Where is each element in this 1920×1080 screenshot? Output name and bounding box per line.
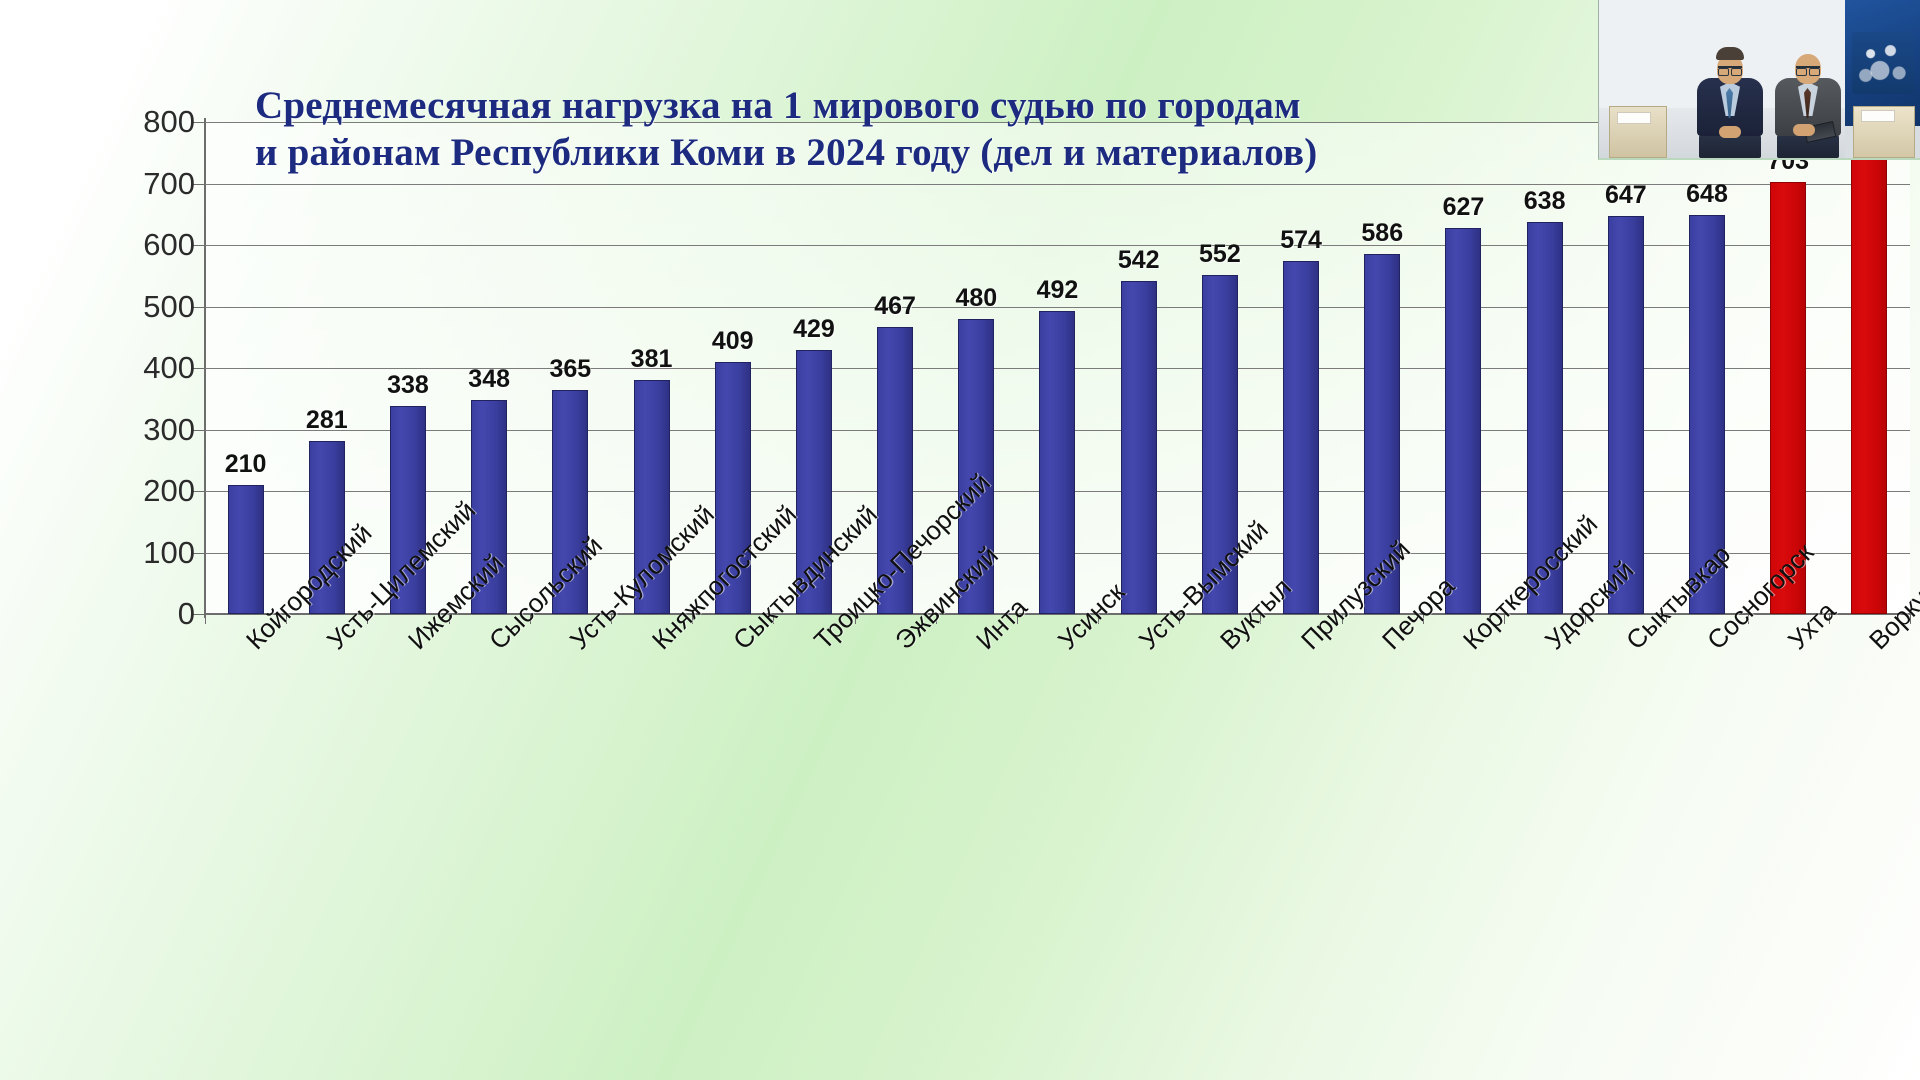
bar[interactable] — [1121, 281, 1157, 614]
bar-value-label: 348 — [468, 365, 510, 394]
bar[interactable] — [1283, 261, 1319, 614]
y-axis-label-600: 600 — [75, 227, 195, 263]
bar-value-label: 480 — [955, 284, 997, 313]
bar-value-label: 542 — [1118, 246, 1160, 275]
bar-slot: 542 — [1098, 122, 1179, 614]
y-axis-label-100: 100 — [75, 535, 195, 571]
y-axis-label-700: 700 — [75, 166, 195, 202]
bar-slot: 492 — [1017, 122, 1098, 614]
bar-value-label: 574 — [1280, 226, 1322, 255]
chart-title-line-1: Среднемесячная нагрузка на 1 мирового су… — [255, 84, 1301, 127]
bar-value-label: 365 — [549, 355, 591, 384]
bar-slot: 627 — [1423, 122, 1504, 614]
bar-value-label: 647 — [1605, 181, 1647, 210]
papers-right — [1861, 110, 1895, 122]
bar-slot: 586 — [1342, 122, 1423, 614]
y-axis-label-400: 400 — [75, 350, 195, 386]
y-axis-label-0: 0 — [75, 596, 195, 632]
bar-value-label: 338 — [387, 371, 429, 400]
hair-right — [1794, 47, 1822, 60]
bar[interactable] — [1039, 311, 1075, 614]
bar-value-label: 586 — [1361, 219, 1403, 248]
bar-value-label: 627 — [1443, 193, 1485, 222]
y-axis-label-300: 300 — [75, 412, 195, 448]
bar-slot: 574 — [1260, 122, 1341, 614]
hair-left — [1716, 47, 1744, 60]
bar-value-label: 492 — [1037, 276, 1079, 305]
chart-title-line-2: и районам Республики Коми в 2024 году (д… — [255, 129, 1575, 176]
bar-value-label: 429 — [793, 315, 835, 344]
chart-title: Среднемесячная нагрузка на 1 мирового су… — [255, 82, 1575, 176]
hands-left — [1719, 126, 1741, 138]
bar[interactable] — [1851, 156, 1887, 614]
y-axis-label-800: 800 — [75, 104, 195, 140]
bar-value-label: 381 — [631, 345, 673, 374]
bar-slot: 648 — [1666, 122, 1747, 614]
bar-slot: 480 — [936, 122, 1017, 614]
bar[interactable] — [228, 485, 264, 614]
bar-slot: 210 — [205, 122, 286, 614]
y-axis-label-500: 500 — [75, 289, 195, 325]
bar-slot: 348 — [449, 122, 530, 614]
bar-value-label: 281 — [306, 406, 348, 435]
bar-value-label: 648 — [1686, 180, 1728, 209]
video-conference-overlay[interactable] — [1598, 0, 1920, 160]
bar-series: 2102813383483653814094294674804925425525… — [205, 122, 1910, 614]
x-tick — [205, 614, 206, 624]
glasses-right-icon — [1796, 66, 1820, 72]
bar-slot — [1829, 122, 1910, 614]
emblem-icon — [1852, 32, 1914, 94]
bar-value-label: 467 — [874, 292, 916, 321]
bar-slot: 703 — [1748, 122, 1829, 614]
person-left — [1691, 46, 1771, 158]
bar-value-label: 638 — [1524, 187, 1566, 216]
person-right — [1771, 46, 1851, 158]
x-tick-end — [1910, 614, 1911, 624]
papers-left — [1617, 112, 1651, 124]
bar[interactable] — [1608, 216, 1644, 614]
bar-value-label: 409 — [712, 327, 754, 356]
bar[interactable] — [1445, 228, 1481, 614]
bar-slot: 365 — [530, 122, 611, 614]
bar-value-label: 210 — [225, 450, 267, 479]
bar-slot: 647 — [1585, 122, 1666, 614]
glasses-left-icon — [1718, 66, 1742, 72]
hands-right — [1793, 124, 1815, 136]
y-axis-label-200: 200 — [75, 473, 195, 509]
bar-value-label: 552 — [1199, 240, 1241, 269]
